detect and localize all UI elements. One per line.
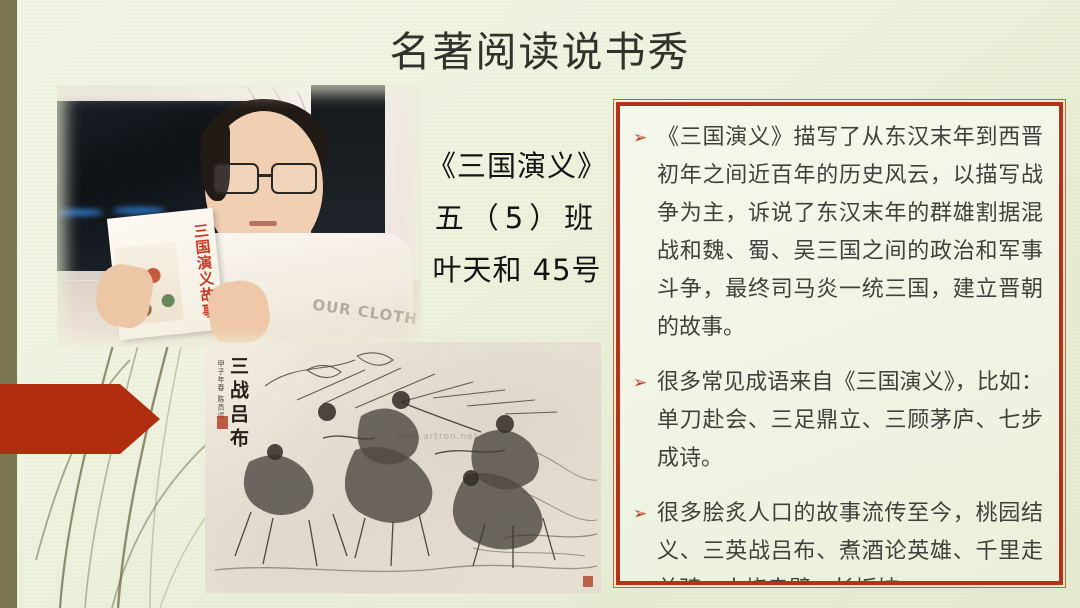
caption-class: 五（5）班 xyxy=(424,192,610,244)
page-title: 名著阅读说书秀 xyxy=(0,18,1080,78)
painting-signature: 甲子年春 陈员运 xyxy=(217,360,225,419)
painting-ink-figures xyxy=(205,342,601,593)
student-mouth xyxy=(249,221,277,226)
content-textbox: ➢ 《三国演义》描写了从东汉末年到西晋初年之间近百年的历史风云，以描写战争为主，… xyxy=(613,99,1066,588)
left-accent-bar xyxy=(0,0,17,608)
list-item: ➢ 很多常见成语来自《三国演义》，比如：单刀赴会、三足鼎立、三顾茅庐、七步成诗。 xyxy=(633,364,1043,478)
content-textbox-inner: ➢ 《三国演义》描写了从东汉末年到西晋初年之间近百年的历史风云，以描写战争为主，… xyxy=(616,102,1063,585)
caption-student: 叶天和 45号 xyxy=(424,244,610,296)
arrow-bullet-icon: ➢ xyxy=(633,364,657,478)
slide-canvas: 名著阅读说书秀 三国演义故 xyxy=(0,0,1080,608)
painting-seal-corner xyxy=(583,576,593,587)
caption-block: 《三国演义》 五（5）班 叶天和 45号 xyxy=(424,140,610,296)
arrow-bullet-icon: ➢ xyxy=(633,119,657,347)
caption-book-title: 《三国演义》 xyxy=(424,140,610,192)
painting-inscription: 三战吕布 xyxy=(227,356,249,452)
list-item: ➢ 《三国演义》描写了从东汉末年到西晋初年之间近百年的历史风云，以描写战争为主，… xyxy=(633,119,1043,347)
painting-watermark: www.artron.net xyxy=(395,432,478,442)
glasses-icon xyxy=(213,163,317,191)
list-item-text: 很多常见成语来自《三国演义》，比如：单刀赴会、三足鼎立、三顾茅庐、七步成诗。 xyxy=(657,364,1043,478)
list-item-text: 很多脍炙人口的故事流传至今，桃园结义、三英战吕布、煮酒论英雄、千里走单骑、火烧赤… xyxy=(657,495,1043,585)
red-chevron-arrow xyxy=(0,384,160,454)
list-item: ➢ 很多脍炙人口的故事流传至今，桃园结义、三英战吕布、煮酒论英雄、千里走单骑、火… xyxy=(633,495,1043,585)
arrow-bullet-icon: ➢ xyxy=(633,495,657,585)
painting-image: 甲子年春 陈员运 三战吕布 www.artron.net xyxy=(205,342,601,593)
painting-seal xyxy=(217,416,228,429)
tv-glow xyxy=(57,209,103,216)
student-photo: 三国演义故事 OUR CLOTH xyxy=(57,85,421,347)
list-item-text: 《三国演义》描写了从东汉末年到西晋初年之间近百年的历史风云，以描写战争为主，诉说… xyxy=(657,119,1043,347)
